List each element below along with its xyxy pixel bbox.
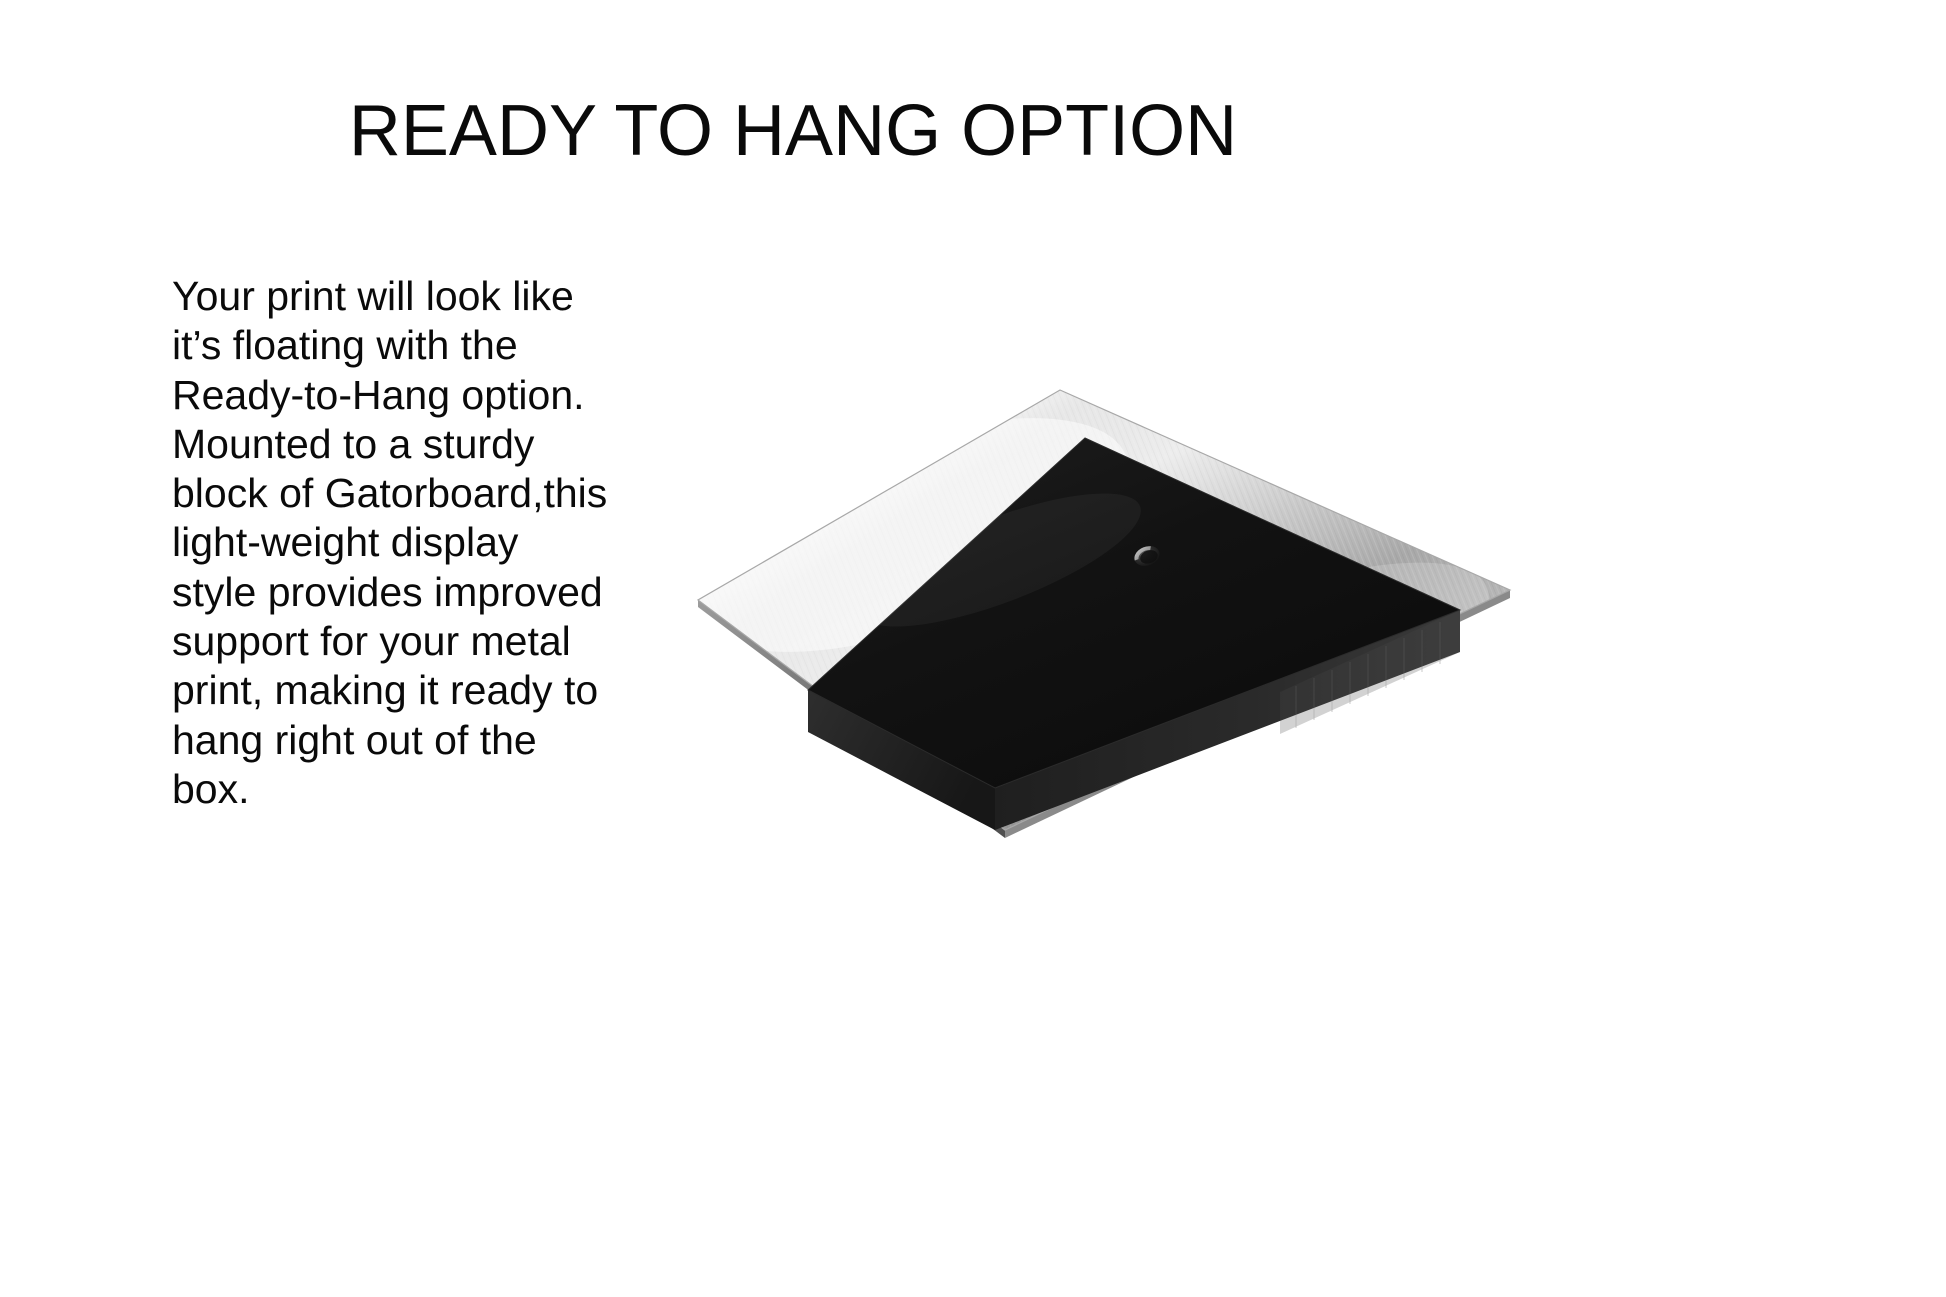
paragraph-line: support for your metal	[172, 617, 620, 666]
paragraph-line: Ready-to-Hang option.	[172, 371, 620, 420]
paragraph-line: print, making it ready to	[172, 666, 620, 715]
product-image	[660, 360, 1540, 840]
paragraph-line: Mounted to a sturdy	[172, 420, 620, 469]
description-paragraph: Your print will look like it’s floating …	[172, 272, 620, 814]
paragraph-line: light-weight display	[172, 518, 620, 567]
paragraph-line: Your print will look like	[172, 272, 620, 321]
paragraph-line: it’s floating with the	[172, 321, 620, 370]
paragraph-line: hang right out of the	[172, 716, 620, 765]
paragraph-line: block of Gatorboard,this	[172, 469, 620, 518]
paragraph-line: style provides improved	[172, 568, 620, 617]
ready-to-hang-illustration	[660, 360, 1540, 840]
paragraph-line: box.	[172, 765, 620, 814]
page-title: READY TO HANG OPTION	[0, 88, 1946, 174]
